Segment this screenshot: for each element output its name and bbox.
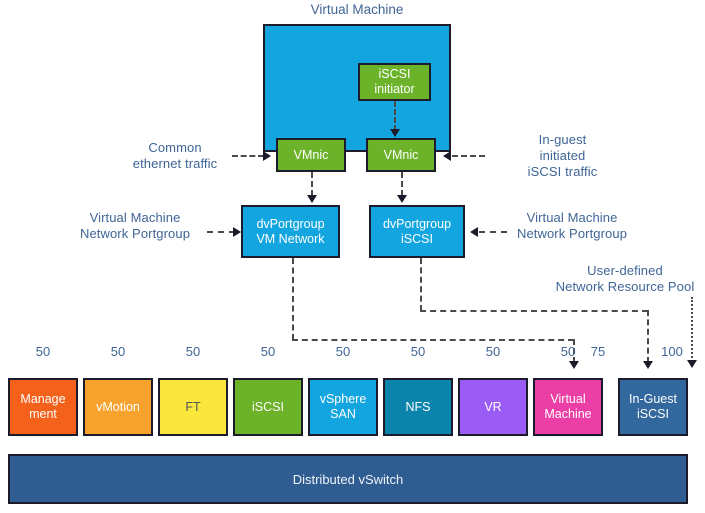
iscsi-route-arrow [643, 361, 653, 369]
share-value: 50 [233, 345, 303, 359]
page-title: Virtual Machine [263, 2, 451, 18]
vmnetwork-route-across [292, 339, 574, 341]
user-defined-pool-arrow [687, 360, 697, 368]
distributed-vswitch-bar: Distributed vSwitch [8, 454, 688, 504]
network-io-control-diagram: Virtual Machine iSCSI initiator VMnic VM… [0, 0, 705, 513]
vmnic-right-to-portgroup-connector [401, 172, 403, 196]
vmnic-right-box: VMnic [366, 138, 436, 172]
dvportgroup-iscsi-box: dvPortgroup iSCSI [369, 205, 465, 258]
iscsi-initiator-box: iSCSI initiator [358, 63, 431, 101]
traffic-box-in-guest-iscsi: In-Guest iSCSI [618, 378, 688, 436]
traffic-box-vsphere-san: vSphere SAN [308, 378, 378, 436]
share-value: 100 [655, 345, 689, 359]
iscsi-route-drop [647, 310, 649, 363]
portgroup-left-arrow [233, 227, 241, 237]
share-value: 75 [583, 345, 613, 359]
vmnic-left-box: VMnic [276, 138, 346, 172]
traffic-box-nfs: NFS [383, 378, 453, 436]
vmnetwork-route-down [292, 258, 294, 340]
vm-network-portgroup-label-right: Virtual Machine Network Portgroup [497, 210, 647, 242]
share-value: 50 [158, 345, 228, 359]
traffic-box-management: Manage ment [8, 378, 78, 436]
in-guest-iscsi-connector [452, 155, 485, 157]
vm-network-portgroup-label-left: Virtual Machine Network Portgroup [60, 210, 210, 242]
common-ethernet-connector [232, 155, 264, 157]
share-value: 50 [383, 345, 453, 359]
portgroup-right-arrow [470, 227, 478, 237]
portgroup-right-connector [479, 231, 507, 233]
vmnetwork-route-arrow [569, 361, 579, 369]
iscsi-route-across [420, 310, 648, 312]
in-guest-iscsi-traffic-label: In-guest initiated iSCSI traffic [495, 132, 630, 180]
initiator-to-vmnic-connector [394, 101, 396, 131]
traffic-box-virtual-machine: Virtual Machine [533, 378, 603, 436]
vmnic-left-to-portgroup-arrow [307, 195, 317, 203]
common-ethernet-traffic-label: Common ethernet traffic [110, 140, 240, 172]
share-value: 50 [8, 345, 78, 359]
vmnic-right-to-portgroup-arrow [397, 195, 407, 203]
portgroup-left-connector [207, 231, 235, 233]
share-value: 50 [83, 345, 153, 359]
iscsi-route-down [420, 258, 422, 311]
in-guest-iscsi-arrow [443, 151, 451, 161]
user-defined-pool-label: User-defined Network Resource Pool [545, 263, 705, 295]
traffic-box-iscsi: iSCSI [233, 378, 303, 436]
traffic-box-ft: FT [158, 378, 228, 436]
common-ethernet-arrow [263, 151, 271, 161]
vmnic-left-to-portgroup-connector [311, 172, 313, 196]
share-value: 50 [458, 345, 528, 359]
dvportgroup-vm-network-box: dvPortgroup VM Network [241, 205, 340, 258]
traffic-box-vmotion: vMotion [83, 378, 153, 436]
traffic-box-vr: VR [458, 378, 528, 436]
user-defined-pool-connector [691, 297, 693, 362]
share-value: 50 [308, 345, 378, 359]
initiator-to-vmnic-arrow [390, 129, 400, 137]
